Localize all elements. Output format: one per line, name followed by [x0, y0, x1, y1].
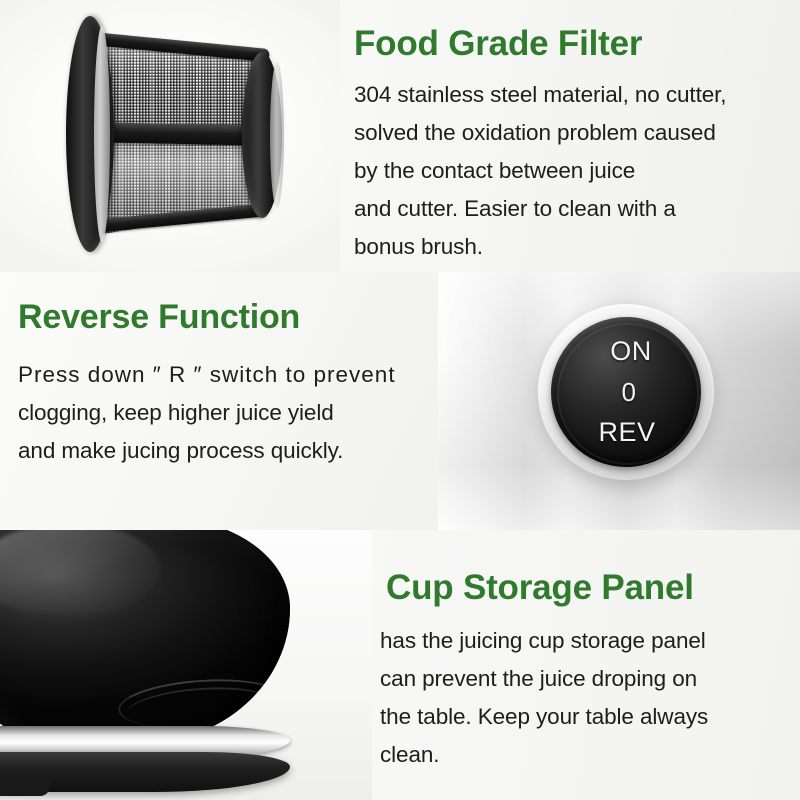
juicer-base-photo	[0, 530, 372, 800]
body-line: Press down ″ R ″ switch to prevent	[18, 356, 396, 394]
control-knob-photo: ON 0 REV	[438, 272, 800, 530]
section-food-grade-filter: Food Grade Filter 304 stainless steel ma…	[0, 0, 800, 272]
section-reverse-function: Reverse Function Press down ″ R ″ switch…	[0, 272, 800, 530]
body-line: clogging, keep higher juice yield	[18, 394, 396, 432]
body-line: and make jucing process quickly.	[18, 432, 396, 470]
knob-label-rev: REV	[598, 419, 655, 446]
body-line: and cutter. Easier to clean with a	[354, 190, 726, 228]
mesh-filter-illustration	[42, 10, 300, 260]
juicer-foot	[0, 776, 50, 796]
heading-cup-storage-panel: Cup Storage Panel	[386, 570, 694, 607]
body-line: solved the oxidation problem caused	[354, 114, 726, 152]
body-cup-storage-panel: has the juicing cup storage panel can pr…	[380, 622, 708, 774]
control-knob-dial[interactable]: ON 0 REV	[551, 317, 701, 467]
body-line: 304 stainless steel material, no cutter,	[354, 76, 726, 114]
knob-label-zero: 0	[622, 379, 637, 405]
body-food-grade-filter: 304 stainless steel material, no cutter,…	[354, 76, 726, 266]
product-feature-infographic: Food Grade Filter 304 stainless steel ma…	[0, 0, 800, 800]
filter-product-photo	[0, 0, 340, 272]
filter-text-block: Food Grade Filter 304 stainless steel ma…	[348, 0, 800, 272]
body-line: by the contact between juice	[354, 152, 726, 190]
cup-storage-text-block: Cup Storage Panel has the juicing cup st…	[378, 530, 800, 800]
heading-reverse-function: Reverse Function	[18, 300, 300, 336]
body-line: has the juicing cup storage panel	[380, 622, 708, 660]
filter-ring-right-lip	[270, 62, 284, 208]
body-line: bonus brush.	[354, 228, 726, 266]
reverse-text-block: Reverse Function Press down ″ R ″ switch…	[0, 272, 438, 530]
body-line: can prevent the juice droping on	[380, 660, 708, 698]
knob-bezel: ON 0 REV	[538, 304, 714, 480]
heading-food-grade-filter: Food Grade Filter	[354, 26, 642, 63]
body-line: the table. Keep your table always	[380, 698, 708, 736]
knob-label-on: ON	[610, 338, 652, 365]
section-cup-storage-panel: Cup Storage Panel has the juicing cup st…	[0, 530, 800, 800]
filter-ring-left-lip	[94, 26, 110, 242]
body-reverse-function: Press down ″ R ″ switch to prevent clogg…	[18, 356, 396, 470]
juicer-gloss-highlight	[0, 530, 160, 614]
body-line: clean.	[380, 736, 708, 774]
